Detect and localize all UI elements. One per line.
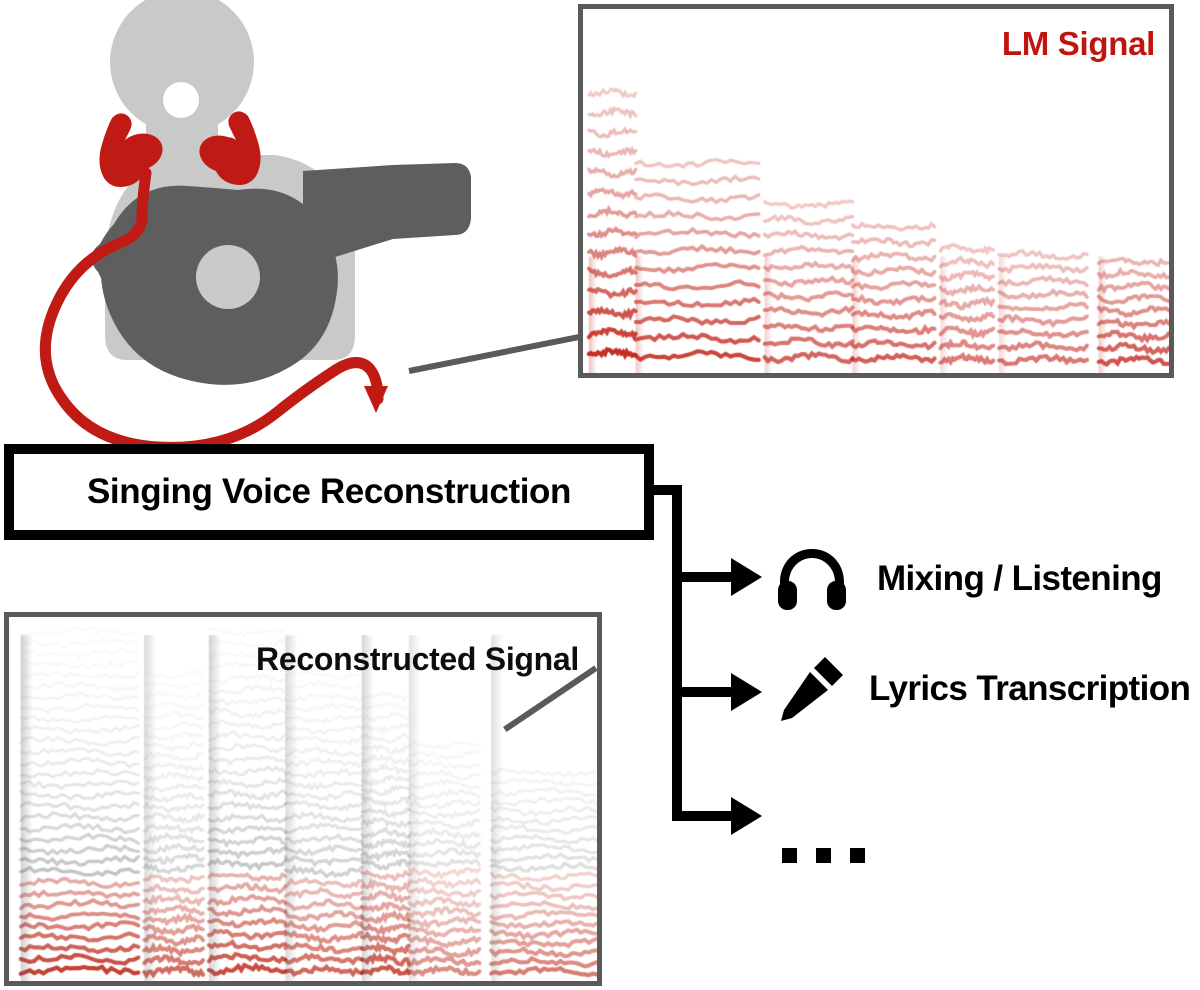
singing-voice-reconstruction-label: Singing Voice Reconstruction (87, 472, 571, 512)
ellipsis-icon (782, 795, 884, 871)
headphones-icon (775, 545, 849, 613)
connector-vertical-bus (672, 485, 682, 821)
branch-line-mixing (672, 572, 734, 582)
reconstructed-signal-panel: Reconstructed Signal (4, 612, 602, 986)
singer-guitar-illustration (0, 0, 500, 450)
lm-signal-panel: LM Signal (578, 4, 1174, 378)
reconstructed-signal-label: Reconstructed Signal (256, 641, 579, 678)
lm-signal-label: LM Signal (1002, 25, 1155, 63)
output-label-mixing: Mixing / Listening (877, 559, 1162, 599)
branch-line-other (672, 811, 734, 821)
branch-line-lyrics (672, 687, 734, 697)
figure-root: LM Signal Singing Voice Reconstruction R… (0, 0, 1200, 990)
singing-voice-reconstruction-box[interactable]: Singing Voice Reconstruction (4, 444, 654, 540)
arrowhead-mixing-icon (731, 558, 762, 596)
output-mixing-listening[interactable]: Mixing / Listening (775, 545, 1162, 613)
output-label-lyrics: Lyrics Transcription (869, 669, 1190, 709)
lm-signal-spectrogram (583, 9, 1169, 373)
output-lyrics-transcription[interactable]: Lyrics Transcription (775, 655, 1190, 723)
arrowhead-other-icon (731, 797, 762, 835)
pencil-icon (775, 655, 849, 723)
cable-arrowhead (364, 386, 388, 413)
arrowhead-lyrics-icon (731, 673, 762, 711)
output-more[interactable] (782, 795, 910, 871)
